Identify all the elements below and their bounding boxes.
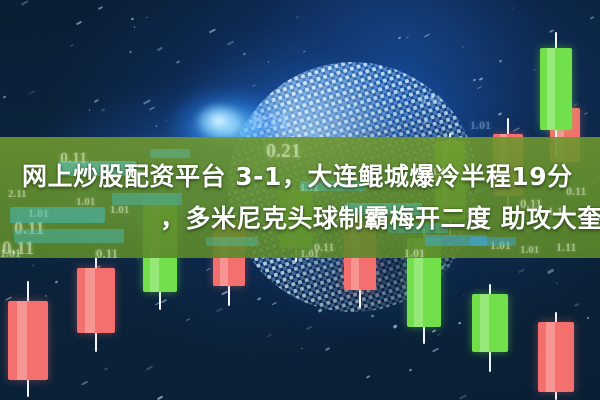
data-bar bbox=[388, 223, 448, 233]
candle-body bbox=[472, 294, 508, 352]
green-banner: 0.111.010.110.111.011.013.111.010.211.11… bbox=[0, 137, 600, 258]
candle-body bbox=[8, 301, 48, 380]
data-bar bbox=[58, 161, 136, 176]
candlestick bbox=[472, 284, 508, 372]
banner-data-bars bbox=[0, 137, 600, 258]
data-bar bbox=[10, 207, 105, 223]
candlestick bbox=[8, 281, 48, 397]
candle-body bbox=[540, 48, 572, 130]
candle-body bbox=[538, 322, 574, 392]
data-bar bbox=[470, 237, 516, 246]
candle-body bbox=[77, 268, 115, 333]
candlestick bbox=[77, 250, 115, 352]
candlestick bbox=[538, 312, 574, 400]
data-bar bbox=[14, 229, 124, 243]
data-bar bbox=[112, 193, 182, 205]
data-bar bbox=[206, 237, 258, 246]
news-cover-image: 0.110.210.111.01 0.111.010.110.111.011.0… bbox=[0, 0, 600, 400]
data-bar bbox=[150, 149, 190, 158]
data-bar bbox=[300, 181, 366, 191]
data-bar bbox=[344, 203, 422, 215]
